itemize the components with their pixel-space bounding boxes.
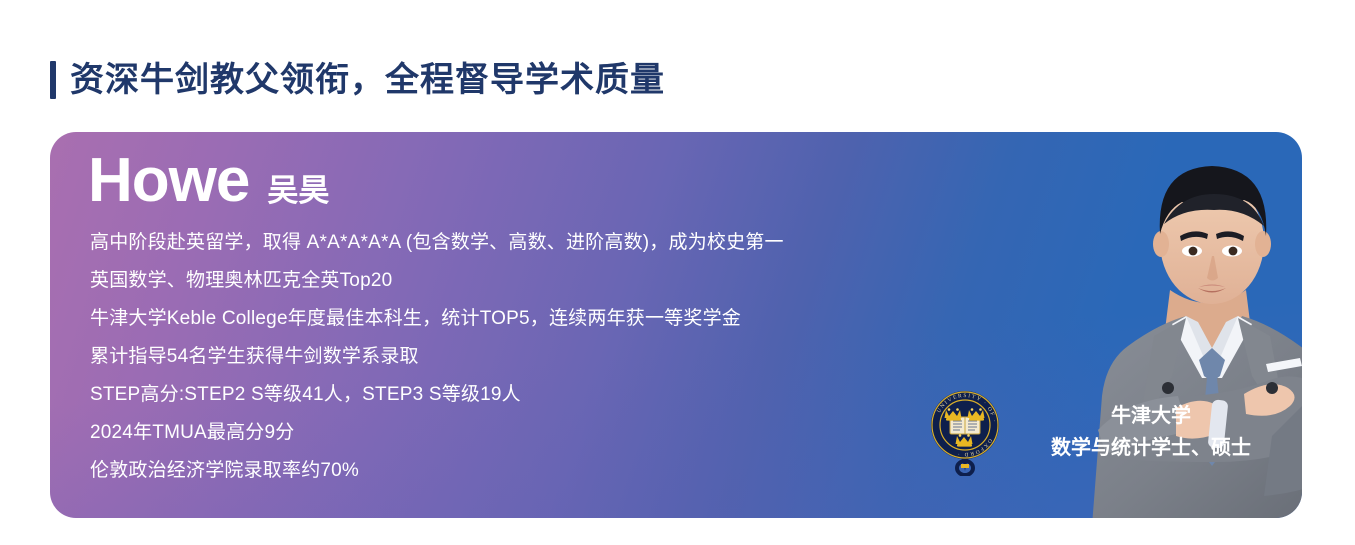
credential-text: 牛津大学 数学与统计学士、硕士 (1024, 400, 1278, 464)
list-item: 牛津大学Keble College年度最佳本科生，统计TOP5，连续两年获一等奖… (90, 300, 950, 338)
teacher-profile-card: Howe 吴昊 高中阶段赴英留学，取得 A*A*A*A*A (包含数学、高数、进… (50, 132, 1302, 518)
list-item: 高中阶段赴英留学，取得 A*A*A*A*A (包含数学、高数、进阶高数)，成为校… (90, 224, 950, 262)
list-item: 2024年TMUA最高分9分 (90, 414, 950, 452)
page-heading: 资深牛剑教父领衔，全程督导学术质量 (50, 57, 665, 103)
degree-name: 数学与统计学士、硕士 (1024, 432, 1278, 464)
teacher-name: Howe 吴昊 (88, 150, 329, 212)
page-title: 资深牛剑教父领衔，全程督导学术质量 (70, 63, 665, 97)
list-item: 伦敦政治经济学院录取率约70% (90, 452, 950, 490)
list-item: STEP高分:STEP2 S等级41人，STEP3 S等级19人 (90, 376, 950, 414)
achievement-list: 高中阶段赴英留学，取得 A*A*A*A*A (包含数学、高数、进阶高数)，成为校… (90, 224, 950, 490)
credential-block: UNIVERSITY · OF · OXFORD · (928, 388, 1278, 476)
name-english: Howe (88, 150, 249, 212)
heading-accent-bar (50, 61, 56, 99)
card-text-content: Howe 吴昊 高中阶段赴英留学，取得 A*A*A*A*A (包含数学、高数、进… (88, 132, 968, 518)
list-item: 累计指导54名学生获得牛剑数学系录取 (90, 338, 950, 376)
university-name: 牛津大学 (1024, 400, 1278, 432)
list-item: 英国数学、物理奥林匹克全英Top20 (90, 262, 950, 300)
name-chinese: 吴昊 (267, 175, 329, 206)
oxford-crest-icon: UNIVERSITY · OF · OXFORD · (928, 388, 1002, 476)
